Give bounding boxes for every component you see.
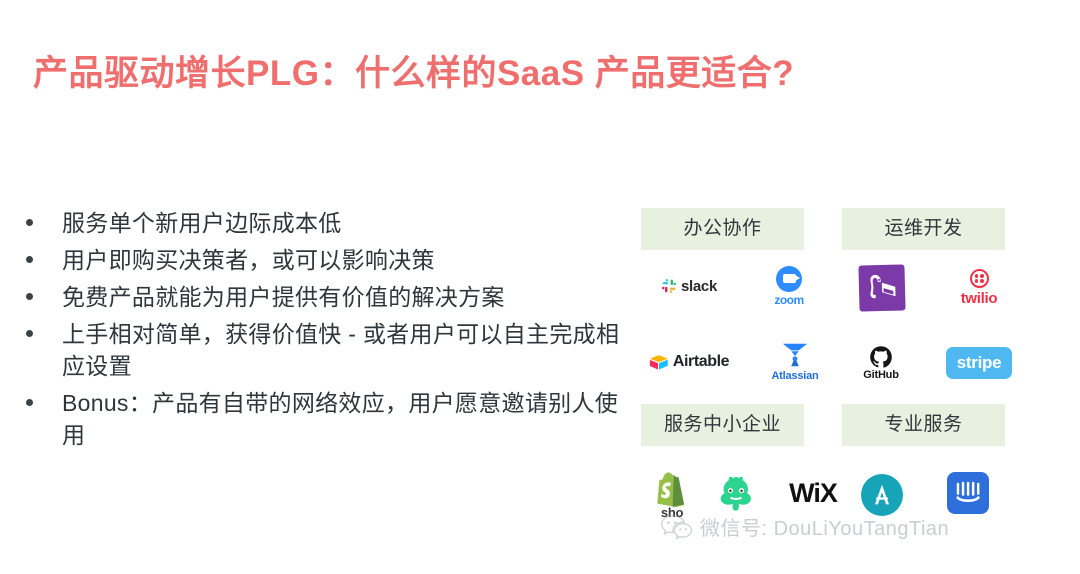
bullet-marker-icon xyxy=(22,318,62,350)
logo-twilio: twilio xyxy=(939,258,1019,318)
category-logo-panel: 办公协作 运维开发 服务中小企业 专业服务 slack xyxy=(641,208,1013,538)
bullet-marker-icon xyxy=(22,244,62,276)
category-label-smb: 服务中小企业 xyxy=(641,404,804,446)
atlassian-wordmark: Atlassian xyxy=(771,370,818,382)
logo-airtable: Airtable xyxy=(633,340,745,384)
airtable-wordmark: Airtable xyxy=(673,353,729,371)
twilio-icon xyxy=(970,269,989,288)
bullet-marker-icon xyxy=(22,207,62,239)
datadog-icon xyxy=(858,264,905,311)
list-item: 免费产品就能为用户提供有价值的解决方案 xyxy=(22,281,622,313)
logo-zoom: zoom xyxy=(739,258,839,314)
list-item-label: Bonus：产品有自带的网络效应，用户愿意邀请别人使用 xyxy=(62,387,622,451)
list-item: 用户即购买决策者，或可以影响决策 xyxy=(22,244,622,276)
category-label-professional-services: 专业服务 xyxy=(842,404,1005,446)
mailchimp-icon xyxy=(713,473,759,517)
list-item: 服务单个新用户边际成本低 xyxy=(22,207,622,239)
zoom-camera-icon xyxy=(776,266,802,292)
bullet-list: 服务单个新用户边际成本低 用户即购买决策者，或可以影响决策 免费产品就能为用户提… xyxy=(22,207,622,456)
atlassian-icon xyxy=(780,340,810,370)
list-item-label: 服务单个新用户边际成本低 xyxy=(62,207,622,239)
list-item-label: 用户即购买决策者，或可以影响决策 xyxy=(62,244,622,276)
wix-wordmark: WiX xyxy=(789,478,837,509)
category-label-office: 办公协作 xyxy=(641,208,804,250)
logo-stripe: stripe xyxy=(935,338,1023,388)
list-item-label: 免费产品就能为用户提供有价值的解决方案 xyxy=(62,281,622,313)
github-wordmark: GitHub xyxy=(863,369,898,381)
logo-slack: slack xyxy=(639,264,739,308)
bullet-marker-icon xyxy=(22,281,62,313)
list-item: Bonus：产品有自带的网络效应，用户愿意邀请别人使用 xyxy=(22,387,622,451)
logo-atlassian: Atlassian xyxy=(745,332,845,390)
wechat-icon xyxy=(660,513,694,541)
zoom-wordmark: zoom xyxy=(774,293,803,307)
slack-icon xyxy=(661,278,677,294)
github-icon xyxy=(869,345,893,369)
watermark: 微信号: DouLiYouTangTian xyxy=(660,512,949,541)
airtable-icon xyxy=(649,354,669,371)
logo-datadog xyxy=(839,258,925,318)
twilio-wordmark: twilio xyxy=(961,290,998,307)
shopify-icon xyxy=(656,471,688,507)
bullet-marker-icon xyxy=(22,387,62,419)
category-label-devops: 运维开发 xyxy=(842,208,1005,250)
slide-canvas: 产品驱动增长PLG：什么样的SaaS 产品更适合? 服务单个新用户边际成本低 用… xyxy=(0,0,1080,574)
slack-wordmark: slack xyxy=(681,278,717,295)
list-item: 上手相对简单，获得价值快 - 或者用户可以自主完成相应设置 xyxy=(22,318,622,382)
stripe-wordmark: stripe xyxy=(946,347,1013,379)
logo-github: GitHub xyxy=(841,336,921,390)
intercom-icon xyxy=(947,472,989,514)
angellist-icon xyxy=(861,474,903,516)
watermark-label: 微信号: DouLiYouTangTian xyxy=(700,512,949,541)
page-title: 产品驱动增长PLG：什么样的SaaS 产品更适合? xyxy=(33,53,794,95)
list-item-label: 上手相对简单，获得价值快 - 或者用户可以自主完成相应设置 xyxy=(62,318,622,382)
